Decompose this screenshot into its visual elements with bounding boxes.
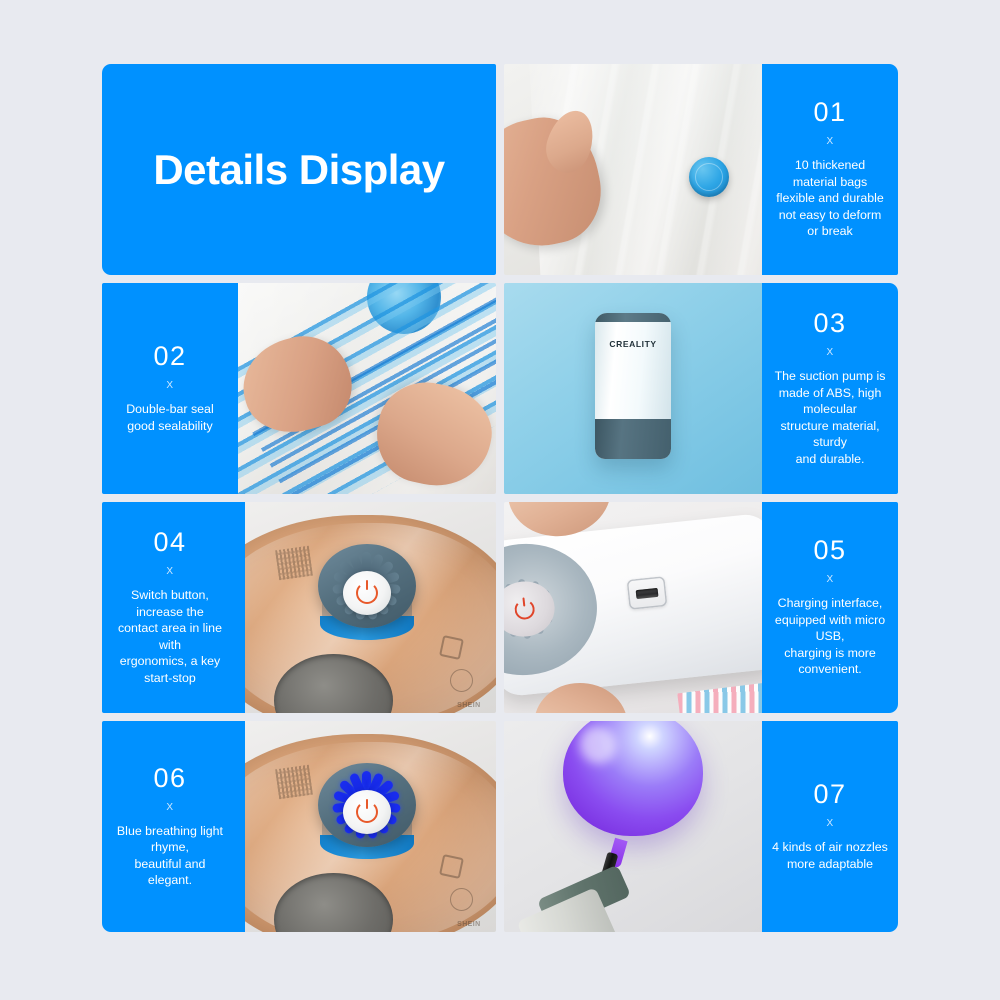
fan-hub [504, 579, 558, 640]
card-05-text: 05 X Charging interface, equipped with m… [762, 502, 898, 713]
card-03-text: 03 X The suction pump is made of ABS, hi… [762, 283, 898, 494]
card-number: 01 [814, 99, 847, 126]
micro-usb-port-icon [626, 576, 667, 610]
separator-glyph: X [826, 348, 833, 358]
card-number: 07 [814, 781, 847, 808]
card-06-text: 06 X Blue breathing light rhyme, beautif… [102, 721, 238, 932]
power-button[interactable] [343, 571, 391, 615]
card-number: 03 [814, 310, 847, 337]
card-01-text: 01 X 10 thickened material bags flexible… [762, 64, 898, 275]
creality-brand-label: CREALITY [595, 339, 671, 349]
separator-glyph: X [826, 819, 833, 829]
details-display-page: Details Display 01 X 10 thickened materi… [0, 0, 1000, 1000]
power-icon [356, 582, 378, 604]
card-description: The suction pump is made of ABS, high mo… [772, 368, 888, 467]
bag-print-mark: SHEIN [457, 921, 480, 928]
card-description: 4 kinds of air nozzles more adaptable [772, 839, 888, 872]
card-number: 06 [153, 765, 186, 792]
power-icon [356, 801, 378, 823]
card-description: 10 thickened material bags flexible and … [772, 157, 888, 240]
card-04-text: 04 X Switch button, increase the contact… [102, 502, 238, 713]
card-description: Blue breathing light rhyme, beautiful an… [112, 823, 228, 889]
photo-balloon-inflation [504, 721, 762, 932]
photo-pump-switch-button: SHEIN [238, 502, 496, 713]
card-07: 07 X 4 kinds of air nozzles more adaptab… [504, 721, 898, 932]
card-description: Charging interface, equipped with micro … [772, 595, 888, 678]
card-06: 06 X Blue breathing light rhyme, beautif… [102, 721, 496, 932]
separator-glyph: X [166, 381, 173, 391]
photo-micro-usb-port [504, 502, 762, 713]
card-02-text: 02 X Double-bar seal good sealability [102, 283, 238, 494]
card-number: 02 [153, 343, 186, 370]
card-number: 05 [814, 537, 847, 564]
separator-glyph: X [826, 137, 833, 147]
pump-base [595, 419, 671, 459]
page-title: Details Display [153, 146, 444, 194]
photo-hand-pulling-vacuum-bag [504, 64, 762, 275]
card-05: 05 X Charging interface, equipped with m… [504, 502, 898, 713]
card-number: 04 [153, 529, 186, 556]
card-01: 01 X 10 thickened material bags flexible… [504, 64, 898, 275]
bag-print-mark: SHEIN [457, 702, 480, 709]
card-07-text: 07 X 4 kinds of air nozzles more adaptab… [762, 721, 898, 932]
qr-code-print [275, 546, 313, 580]
card-description: Double-bar seal good sealability [126, 401, 213, 434]
pump-top-cap [595, 313, 671, 322]
photo-left-blue-band [238, 502, 245, 713]
blue-valve-icon [689, 157, 729, 197]
separator-glyph: X [166, 567, 173, 577]
photo-pump-blue-breathing-light: SHEIN [238, 721, 496, 932]
separator-glyph: X [166, 803, 173, 813]
power-button[interactable] [343, 790, 391, 834]
card-03: CREALITY 03 X The suction pump is made o… [504, 283, 898, 494]
title-panel: Details Display [102, 64, 496, 275]
pump-unit [318, 544, 416, 642]
stamp-icon [450, 669, 473, 692]
title-cell: Details Display [102, 64, 496, 275]
purple-balloon [563, 721, 703, 836]
qr-code-print [275, 765, 313, 799]
background-stripes [678, 682, 762, 713]
photo-creality-pump: CREALITY [504, 283, 762, 494]
photo-double-bar-seal [238, 283, 496, 494]
details-grid: Details Display 01 X 10 thickened materi… [102, 64, 898, 934]
stamp-icon [450, 888, 473, 911]
separator-glyph: X [826, 575, 833, 585]
card-description: Switch button, increase the contact area… [112, 587, 228, 686]
power-icon [514, 599, 536, 621]
pump-body: CREALITY [595, 313, 671, 459]
photo-left-blue-band [238, 721, 245, 932]
card-04: 04 X Switch button, increase the contact… [102, 502, 496, 713]
pump-unit [318, 763, 416, 861]
card-02: 02 X Double-bar seal good sealability [102, 283, 496, 494]
